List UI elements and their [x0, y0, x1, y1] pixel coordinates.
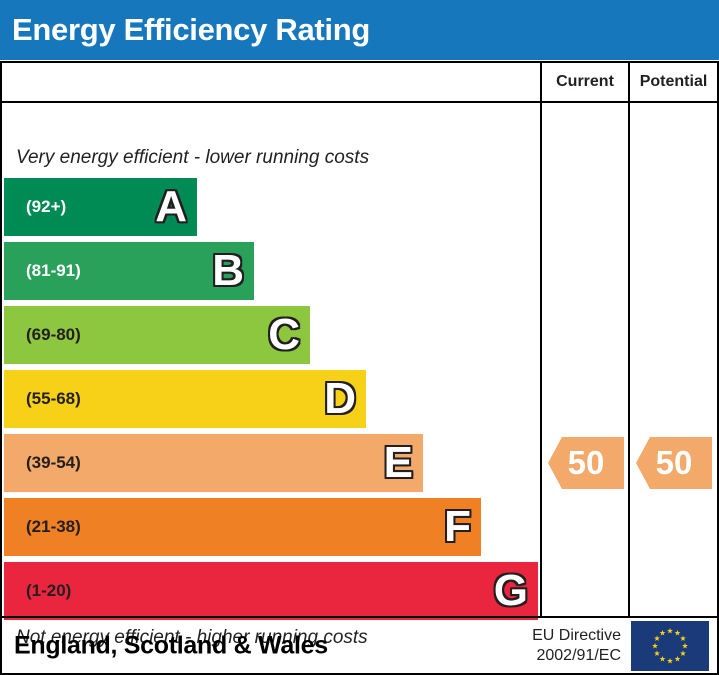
band-letter-d: D — [324, 377, 356, 421]
header-divider-1 — [540, 63, 542, 103]
column-divider-2 — [628, 103, 630, 616]
rating-band-g: (1-20)G — [4, 562, 538, 620]
column-header-row: Current Potential — [2, 63, 717, 103]
band-letter-a: A — [155, 185, 187, 229]
band-letter-b: B — [212, 249, 244, 293]
column-header-potential: Potential — [630, 63, 717, 101]
band-letter-e: E — [384, 441, 413, 485]
chart-title-bar: Energy Efficiency Rating — [0, 0, 719, 60]
column-divider-1 — [540, 103, 542, 616]
header-divider-2 — [628, 63, 630, 103]
rating-band-d: (55-68)D — [4, 370, 366, 428]
caption-very-efficient: Very energy efficient - lower running co… — [16, 147, 369, 169]
footer-directive: EU Directive 2002/91/EC — [532, 626, 621, 666]
rating-band-e: (39-54)E — [4, 434, 423, 492]
band-range-a: (92+) — [4, 197, 66, 217]
chart-frame: Current Potential Very energy efficient … — [0, 61, 719, 675]
rating-band-c: (69-80)C — [4, 306, 310, 364]
band-letter-c: C — [268, 313, 300, 357]
eu-flag-icon — [631, 621, 709, 671]
rating-band-f: (21-38)F — [4, 498, 481, 556]
directive-line-1: EU Directive — [532, 626, 621, 646]
potential-rating-arrow: 50 — [636, 437, 712, 489]
current-rating-arrow: 50 — [548, 437, 624, 489]
band-range-e: (39-54) — [4, 453, 81, 473]
rating-band-b: (81-91)B — [4, 242, 254, 300]
column-header-current: Current — [542, 63, 628, 101]
band-range-b: (81-91) — [4, 261, 81, 281]
band-range-c: (69-80) — [4, 325, 81, 345]
page-title: Energy Efficiency Rating — [0, 0, 370, 60]
band-letter-g: G — [494, 569, 528, 613]
band-range-f: (21-38) — [4, 517, 81, 537]
footer-region-label: England, Scotland & Wales — [14, 632, 328, 661]
band-chart-body: Very energy efficient - lower running co… — [2, 103, 540, 616]
rating-band-a: (92+)A — [4, 178, 197, 236]
potential-rating-value: 50 — [656, 444, 693, 482]
band-letter-f: F — [444, 505, 471, 549]
band-range-g: (1-20) — [4, 581, 71, 601]
directive-line-2: 2002/91/EC — [532, 646, 621, 666]
current-rating-value: 50 — [568, 444, 605, 482]
band-range-d: (55-68) — [4, 389, 81, 409]
chart-footer: England, Scotland & Wales EU Directive 2… — [2, 616, 717, 674]
energy-efficiency-rating-chart: Energy Efficiency Rating Current Potenti… — [0, 0, 719, 675]
